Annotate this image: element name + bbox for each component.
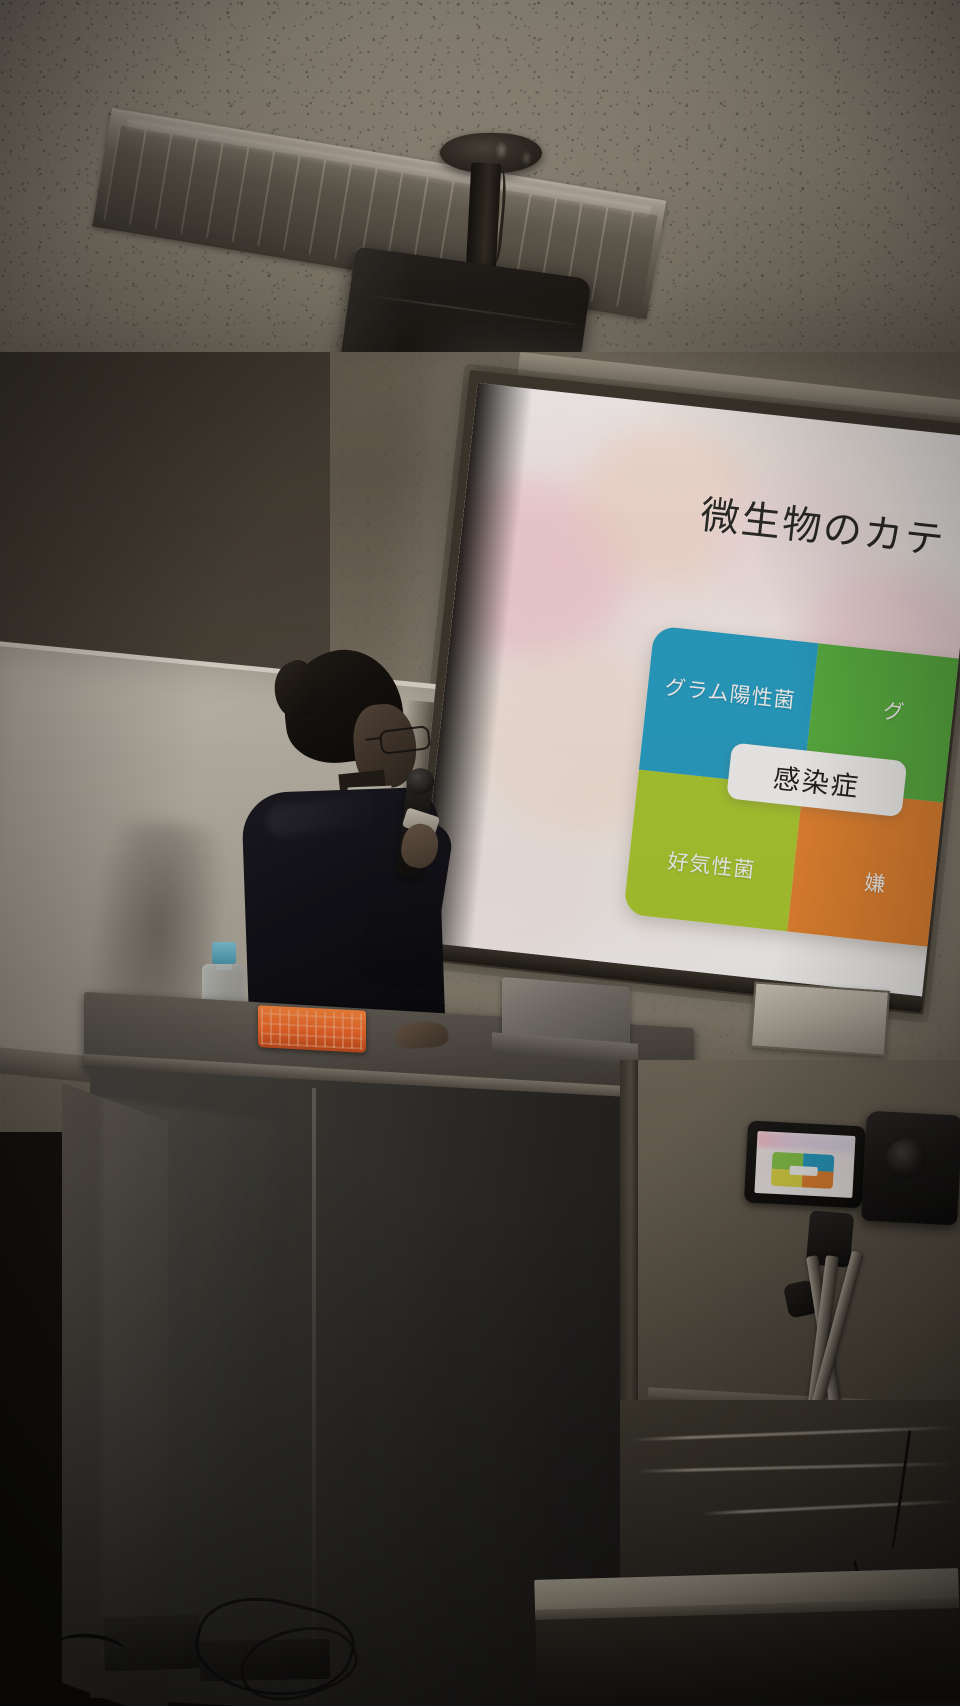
slide-tile-label: グラム陽性菌 [663,670,797,714]
slide-tile-label: グ [882,694,907,726]
presenter-hand-on-podium [395,1020,449,1050]
wall-panel [750,981,890,1056]
slide-tile-label: 嫌 [863,866,888,898]
camcorder-lcd-screen [754,1131,855,1198]
microphone-head [405,767,436,796]
orange-basket [258,1005,366,1053]
camcorder [743,1104,960,1225]
lecture-presentation-photo: 微生物のカテ グラム陽性菌 グ 好気性菌 嫌 感染症 [0,0,960,1706]
wall-shadow-region [0,352,330,682]
slide-tile-label: 好気性菌 [666,845,757,884]
slide-surface: 微生物のカテ グラム陽性菌 グ 好気性菌 嫌 感染症 [417,383,960,997]
eyeglasses-icon [379,725,432,755]
projection-screen: 微生物のカテ グラム陽性菌 グ 好気性菌 嫌 感染症 [404,370,960,1033]
laptop [492,982,638,1060]
camcorder-lcd-frame [744,1120,866,1208]
equipment-table [534,1568,960,1706]
presenter [236,640,476,1060]
bottle-cap [212,942,236,964]
